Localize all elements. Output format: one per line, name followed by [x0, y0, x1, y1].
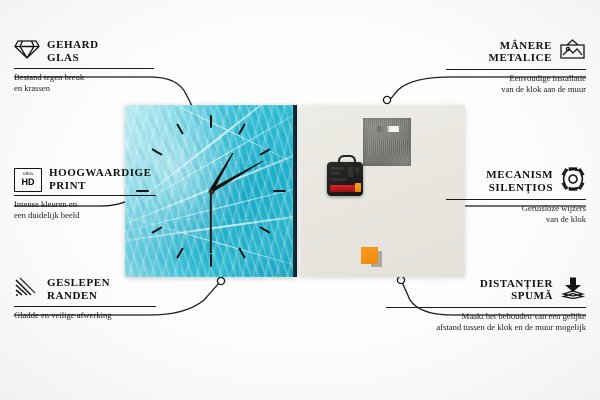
callout-title-line1: GEHARD [47, 39, 99, 52]
clock-tick [238, 123, 246, 134]
callout-divider [446, 199, 586, 200]
callout-desc-line2: van de klok aan de muur [446, 84, 586, 95]
clock-tick [176, 247, 184, 258]
callout-desc-line2: en krassen [14, 83, 154, 94]
clock-center-hub [209, 189, 214, 194]
quartz-mechanism-box [327, 162, 363, 196]
callout-desc-line1: Gladde en veilige afwerking [14, 310, 156, 321]
clock-tick [259, 148, 270, 156]
callout-title-line2: PRINT [49, 180, 152, 193]
callout-divider [14, 68, 154, 69]
callout-gehard-glas[interactable]: GEHARD GLAS Bestand tegen breuk en krass… [14, 38, 154, 94]
callout-geslepen-randen[interactable]: GESLEPEN RANDEN Gladde en veilige afwerk… [14, 276, 156, 321]
callout-manere-metalice[interactable]: MÂNERE METALICE Eenvoudige installatie v… [446, 38, 586, 95]
clock-tick [151, 226, 162, 234]
beveled-edges-icon [14, 276, 40, 303]
picture-frame-icon [559, 38, 586, 66]
gear-icon [560, 167, 586, 196]
clock-glass-edge [293, 105, 297, 277]
metal-hanger-plate [363, 118, 411, 166]
clock-back-panel [301, 105, 465, 277]
mechanism-hang-loop [338, 155, 356, 166]
callout-desc-line1: Geruisloze wijzers [446, 203, 586, 214]
clock-tick [238, 247, 246, 258]
callout-mecanism-silentios[interactable]: MECANISM SILENȚIOS [446, 167, 586, 225]
callout-desc-line1: Intense kleuren en [14, 199, 156, 210]
callout-desc-line1: Bestand tegen breuk [14, 72, 154, 83]
callout-title-line1: MÂNERE [489, 40, 552, 53]
infographic-canvas: GEHARD GLAS Bestand tegen breuk en krass… [0, 0, 600, 400]
callout-title-line1: DISTANȚIER [480, 278, 553, 291]
clock-tick [210, 254, 212, 267]
callout-title-line2: RANDEN [47, 290, 110, 303]
callout-desc-line1: Eenvoudige installatie [446, 73, 586, 84]
clock-tick [273, 190, 286, 192]
clock-tick [176, 123, 184, 134]
ultra-hd-big-text: HD [22, 178, 35, 187]
callout-desc-line2: van de klok [446, 214, 586, 225]
callout-title-line2: METALICE [489, 52, 552, 65]
clock-tick [259, 226, 270, 234]
down-arrow-layers-icon [560, 276, 586, 304]
callout-title-line1: HOOGWAARDIGE [49, 167, 152, 180]
foam-spacer [361, 247, 378, 264]
clock-tick [151, 148, 162, 156]
callout-title-line2: SILENȚIOS [486, 182, 553, 195]
callout-desc-line1: Maakt het behouden van een gelijke [386, 311, 586, 322]
callout-desc-line2: een duidelijk beeld [14, 210, 156, 221]
callout-divider [446, 69, 586, 70]
callout-title-line2: SPUMĂ [480, 290, 553, 303]
hanger-slot [377, 126, 399, 132]
ultra-hd-icon: ultra HD [14, 168, 42, 192]
callout-divider [14, 195, 156, 196]
callout-distantier-spuma[interactable]: DISTANȚIER SPUMĂ Maakt het behouden van … [386, 276, 586, 333]
callout-title-line1: MECANISM [486, 169, 553, 182]
callout-title-line1: GESLEPEN [47, 277, 110, 290]
diamond-icon [14, 38, 40, 65]
leader-endpoint-manere-metalice [383, 96, 390, 103]
battery-positive-terminal [355, 183, 361, 192]
callout-desc-line2: afstand tussen de klok en de muur mogeli… [386, 322, 586, 333]
callout-hoogwaardige-print[interactable]: ultra HD HOOGWAARDIGE PRINT Intense kleu… [14, 167, 156, 221]
callout-title-line2: GLAS [47, 52, 99, 65]
callout-divider [14, 306, 156, 307]
aa-battery [330, 185, 360, 192]
leader-endpoint-geslepen-randen [217, 277, 224, 284]
product-image [125, 105, 465, 277]
callout-divider [386, 307, 586, 308]
clock-second-hand [210, 191, 212, 253]
clock-tick [210, 115, 212, 128]
